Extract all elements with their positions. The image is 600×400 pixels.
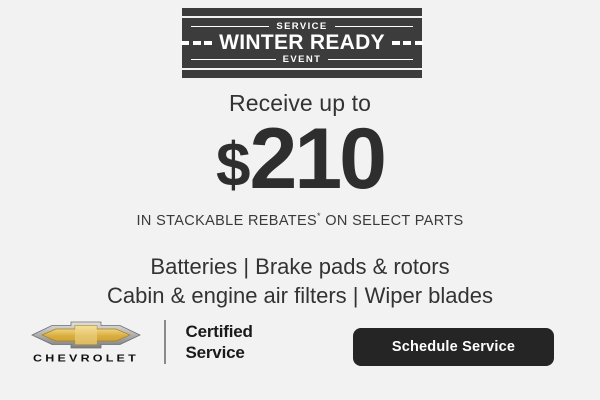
chevrolet-bowtie-icon bbox=[30, 320, 142, 350]
currency-symbol: $ bbox=[216, 131, 249, 200]
badge-dashes-right bbox=[392, 41, 423, 45]
covered-parts-line-2: Cabin & engine air filters | Wiper blade… bbox=[0, 281, 600, 310]
badge-dashes-left bbox=[181, 41, 212, 45]
offer-terms-suffix: ON SELECT PARTS bbox=[321, 213, 464, 229]
badge-eyebrow-label: SERVICE bbox=[269, 22, 334, 32]
certified-service-label: Certified Service bbox=[186, 321, 253, 364]
badge-event-rule-right bbox=[328, 59, 413, 61]
badge-top-bar bbox=[182, 8, 422, 16]
badge-core: SERVICE WINTER READY EVENT bbox=[182, 18, 422, 68]
covered-parts-line-1: Batteries | Brake pads & rotors bbox=[0, 252, 600, 281]
badge-event-label: EVENT bbox=[276, 55, 329, 65]
chevrolet-lockup: CHEVROLET bbox=[30, 320, 142, 365]
badge-headline-row: WINTER READY bbox=[182, 32, 422, 55]
badge-eyebrow-row: SERVICE bbox=[182, 21, 422, 32]
schedule-service-button[interactable]: Schedule Service bbox=[353, 328, 554, 366]
offer-terms-text: IN STACKABLE REBATES bbox=[137, 213, 318, 229]
winter-ready-service-ad: SERVICE WINTER READY EVENT Receive up to bbox=[0, 0, 600, 400]
brand-divider bbox=[164, 320, 166, 364]
amount-value: 210 bbox=[249, 111, 384, 207]
offer-terms: IN STACKABLE REBATES* ON SELECT PARTS bbox=[0, 214, 600, 229]
covered-parts-list: Batteries | Brake pads & rotors Cabin & … bbox=[0, 252, 600, 311]
badge-headline: WINTER READY bbox=[212, 32, 392, 53]
ad-footer: CHEVROLET Certified Service Schedule Ser… bbox=[0, 318, 600, 380]
badge-event-rule-left bbox=[191, 59, 276, 61]
certified-service-line-1: Certified bbox=[186, 321, 253, 342]
badge-eyebrow-rule-left bbox=[191, 26, 269, 28]
chevrolet-wordmark: CHEVROLET bbox=[33, 353, 139, 363]
badge-bottom-bar bbox=[182, 70, 422, 78]
offer-amount: $210 bbox=[0, 116, 600, 202]
badge-eyebrow-rule-right bbox=[335, 26, 413, 28]
event-badge: SERVICE WINTER READY EVENT bbox=[182, 8, 422, 78]
certified-service-line-2: Service bbox=[186, 342, 253, 363]
badge-event-row: EVENT bbox=[182, 54, 422, 65]
brand-lockup: CHEVROLET Certified Service bbox=[30, 320, 253, 365]
